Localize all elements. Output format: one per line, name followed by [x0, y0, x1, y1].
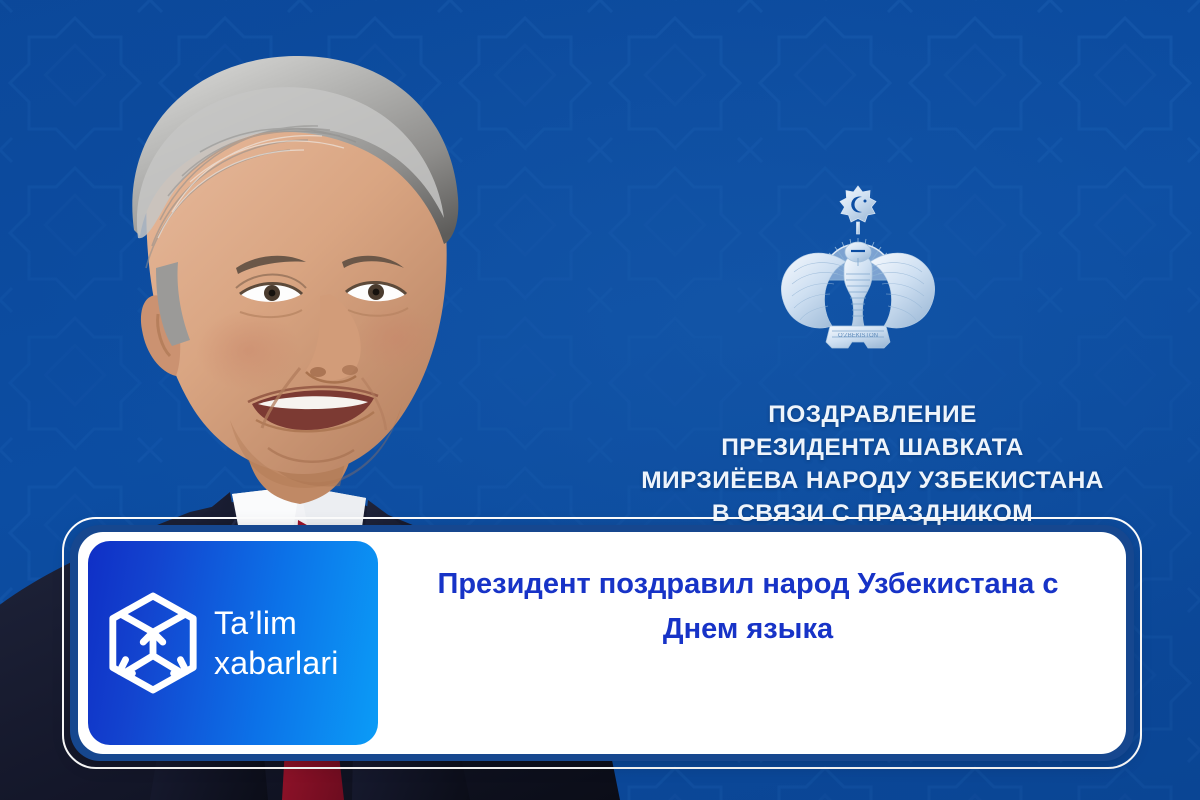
headline-line-3: МИРЗИЁЕВА НАРОДУ УЗБЕКИСТАНА	[600, 464, 1145, 497]
news-card-title-line-1: Президент поздравил народ Узбекистана с	[392, 562, 1104, 607]
headline-line-1: ПОЗДРАВЛЕНИЕ	[600, 398, 1145, 431]
news-card-title-line-2: Днем языка	[392, 607, 1104, 652]
news-card-title: Президент поздравил народ Узбекистана с …	[392, 562, 1104, 652]
brand-logo-text: Ta’lim xabarlari	[214, 603, 339, 683]
emblem-ribbon-text: O‘ZBEKISTON	[838, 333, 878, 339]
uzbekistan-coat-of-arms-icon: O‘ZBEKISTON	[772, 180, 944, 360]
brand-logo-line-1: Ta’lim	[214, 603, 339, 643]
headline-overlay: ПОЗДРАВЛЕНИЕ ПРЕЗИДЕНТА ШАВКАТА МИРЗИЁЕВ…	[600, 398, 1145, 530]
news-banner: O‘ZBEKISTON ПОЗДРАВЛЕНИЕ ПРЕЗИДЕНТА ШАВК…	[0, 0, 1200, 800]
brand-logo-block[interactable]: Ta’lim xabarlari	[88, 541, 378, 745]
headline-line-2: ПРЕЗИДЕНТА ШАВКАТА	[600, 431, 1145, 464]
cube-box-icon	[104, 591, 202, 695]
brand-logo-line-2: xabarlari	[214, 643, 339, 683]
